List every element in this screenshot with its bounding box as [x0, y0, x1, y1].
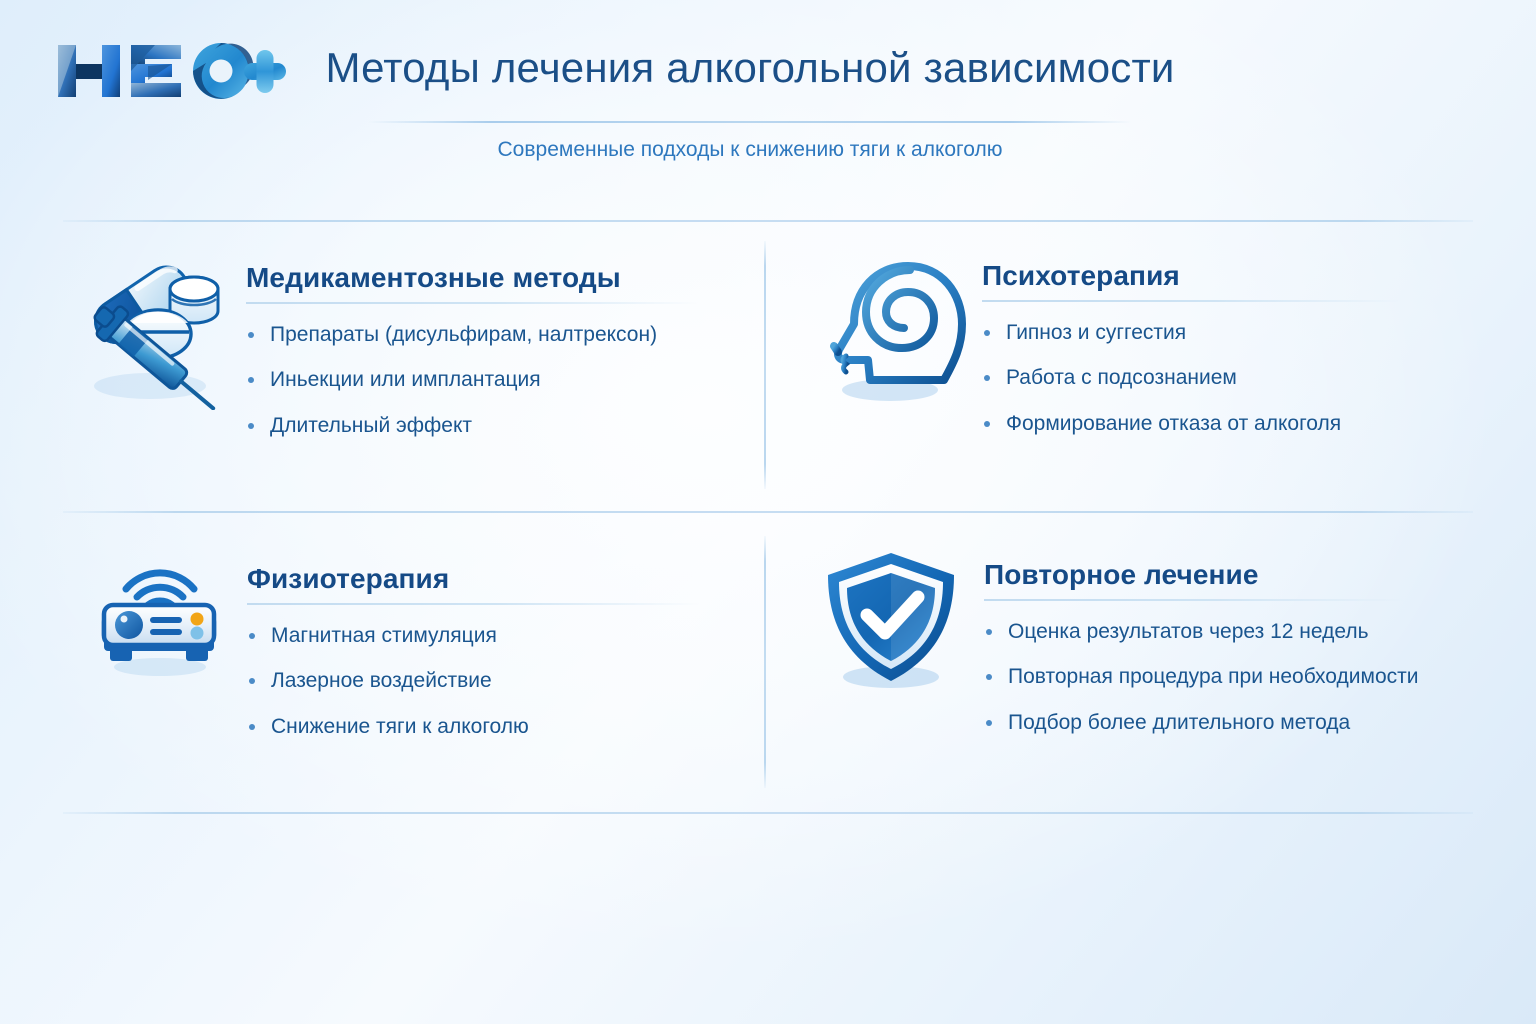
card-body-psychotherapy: Психотерапия Гипноз и суггестия Работа с… — [982, 250, 1472, 437]
shield-check-icon — [812, 545, 970, 705]
card-body-repeat-treatment: Повторное лечение Оценка результатов чер… — [984, 545, 1472, 736]
card-title-medication: Медикаментозные методы — [246, 262, 740, 294]
bullet-text: Длительный эффект — [270, 414, 472, 437]
list-item: Подбор более длительного метода — [984, 710, 1472, 736]
card-psychotherapy: Психотерапия Гипноз и суггестия Работа с… — [812, 250, 1472, 437]
bullet-list-physiotherapy: Магнитная стимуляция Лазерное воздействи… — [247, 623, 742, 740]
bullet-dot-icon — [249, 678, 255, 684]
head-spiral-icon — [812, 250, 970, 410]
list-item: Оценка результатов через 12 недель — [984, 619, 1472, 645]
title-divider — [368, 121, 1132, 123]
page-title: Методы лечения алкогольной зависимости — [300, 45, 1200, 91]
bullet-dot-icon — [249, 724, 255, 730]
bullet-dot-icon — [986, 674, 992, 680]
bullet-dot-icon — [248, 332, 254, 338]
divider-middle — [63, 511, 1473, 513]
list-item: Иньекции или имплантация — [246, 367, 740, 393]
pills-syringe-icon — [80, 250, 238, 410]
bullet-text: Магнитная стимуляция — [271, 624, 497, 647]
list-item: Снижение тяги к алкоголю — [247, 714, 742, 740]
bullet-dot-icon — [249, 633, 255, 639]
page-subtitle: Современные подходы к снижению тяги к ал… — [300, 138, 1200, 162]
card-title-repeat-treatment: Повторное лечение — [984, 559, 1472, 591]
list-item: Магнитная стимуляция — [247, 623, 742, 649]
therapy-device-waves-icon — [82, 545, 237, 680]
card-title-psychotherapy: Психотерапия — [982, 260, 1472, 292]
bullet-list-psychotherapy: Гипноз и суггестия Работа с подсознанием… — [982, 320, 1472, 437]
list-item: Формирование отказа от алкоголя — [982, 411, 1472, 437]
bullet-text: Оценка результатов через 12 недель — [1008, 620, 1369, 643]
divider-vertical-upper — [764, 241, 766, 489]
divider-vertical-lower — [764, 536, 766, 788]
bullet-list-medication: Препараты (дисульфирам, налтрексон) Инье… — [246, 322, 740, 439]
card-title-underline — [247, 603, 699, 605]
card-body-medication: Медикаментозные методы Препараты (дисуль… — [246, 250, 740, 439]
bullet-text: Повторная процедура при необходимости — [1008, 665, 1418, 688]
list-item: Препараты (дисульфирам, налтрексон) — [246, 322, 740, 348]
bullet-text: Работа с подсознанием — [1006, 366, 1237, 389]
bullet-list-repeat-treatment: Оценка результатов через 12 недель Повто… — [984, 619, 1472, 736]
divider-top — [63, 220, 1473, 222]
card-physiotherapy: Физиотерапия Магнитная стимуляция Лазерн… — [82, 545, 742, 740]
list-item: Повторная процедура при необходимости — [984, 664, 1472, 690]
list-item: Работа с подсознанием — [982, 365, 1472, 391]
bullet-dot-icon — [248, 377, 254, 383]
bullet-dot-icon — [984, 375, 990, 381]
card-medication: Медикаментозные методы Препараты (дисуль… — [80, 250, 740, 439]
card-title-underline — [984, 599, 1404, 601]
bullet-text: Снижение тяги к алкоголю — [271, 715, 529, 738]
infographic-root: Методы лечения алкогольной зависимости С… — [0, 0, 1536, 1024]
bullet-dot-icon — [986, 720, 992, 726]
card-title-underline — [246, 302, 698, 304]
bullet-dot-icon — [984, 421, 990, 427]
card-body-physiotherapy: Физиотерапия Магнитная стимуляция Лазерн… — [247, 545, 742, 740]
bullet-text: Гипноз и суггестия — [1006, 321, 1186, 344]
divider-bottom — [63, 812, 1473, 814]
bullet-text: Иньекции или имплантация — [270, 368, 541, 391]
card-repeat-treatment: Повторное лечение Оценка результатов чер… — [812, 545, 1472, 736]
bullet-dot-icon — [986, 629, 992, 635]
bullet-dot-icon — [248, 423, 254, 429]
bullet-text: Подбор более длительного метода — [1008, 711, 1350, 734]
card-title-physiotherapy: Физиотерапия — [247, 563, 742, 595]
bullet-dot-icon — [984, 330, 990, 336]
bullet-text: Препараты (дисульфирам, налтрексон) — [270, 323, 657, 346]
list-item: Гипноз и суггестия — [982, 320, 1472, 346]
bullet-text: Формирование отказа от алкоголя — [1006, 412, 1341, 435]
neo-plus-logo — [56, 38, 286, 104]
header: Методы лечения алкогольной зависимости С… — [0, 0, 1536, 200]
list-item: Длительный эффект — [246, 413, 740, 439]
card-title-underline — [982, 300, 1402, 302]
list-item: Лазерное воздействие — [247, 668, 742, 694]
bullet-text: Лазерное воздействие — [271, 669, 492, 692]
